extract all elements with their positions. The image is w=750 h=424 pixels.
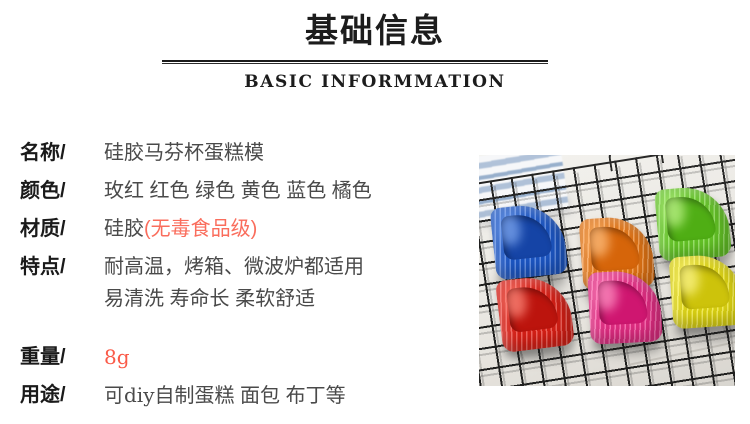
spec-row-color: 颜色/ 玫红 红色 绿色 黄色 蓝色 橘色 xyxy=(20,178,470,204)
page-header: 基础信息 BASIC INFORMMATION xyxy=(0,0,750,110)
spec-row-features: 特点/ 耐高温，烤箱、微波炉都适用 易清洗 寿命长 柔软舒适 xyxy=(20,254,470,312)
blue-cup xyxy=(489,201,568,280)
spec-label-features: 特点/ xyxy=(20,254,98,280)
page-title: 基础信息 xyxy=(0,10,750,52)
product-photo-scene xyxy=(479,155,735,386)
pink-cup xyxy=(587,269,663,345)
spec-value-weight: 8g xyxy=(98,344,470,370)
spec-value-features-line1: 耐高温，烤箱、微波炉都适用 xyxy=(104,254,470,280)
spec-value-material-note: (无毒食品级) xyxy=(144,218,257,240)
spec-value-color: 玫红 红色 绿色 黄色 蓝色 橘色 xyxy=(98,178,470,204)
spec-row-weight: 重量/ 8g xyxy=(20,344,470,370)
spec-label-weight: 重量/ xyxy=(20,344,98,370)
page-subtitle: BASIC INFORMMATION xyxy=(0,72,750,92)
spec-value-features: 耐高温，烤箱、微波炉都适用 易清洗 寿命长 柔软舒适 xyxy=(98,254,470,312)
yellow-cup xyxy=(669,253,735,330)
spec-value-name: 硅胶马芬杯蛋糕模 xyxy=(98,140,470,166)
product-photo xyxy=(479,155,735,386)
spec-value-usage-diy: diy xyxy=(124,383,155,407)
divider-rule-thick xyxy=(162,60,548,62)
red-cup xyxy=(495,273,575,353)
spec-value-material: 硅胶(无毒食品级) xyxy=(98,216,470,242)
spec-row-name: 名称/ 硅胶马芬杯蛋糕模 xyxy=(20,140,470,166)
divider-rule-thin xyxy=(162,63,548,64)
spec-value-features-line2: 易清洗 寿命长 柔软舒适 xyxy=(104,286,470,312)
spec-label-material: 材质/ xyxy=(20,216,98,242)
spec-value-usage-pre: 可 xyxy=(104,385,124,407)
spec-label-color: 颜色/ xyxy=(20,178,98,204)
specification-list: 名称/ 硅胶马芬杯蛋糕模 颜色/ 玫红 红色 绿色 黄色 蓝色 橘色 材质/ 硅… xyxy=(20,140,470,421)
spec-label-usage: 用途/ xyxy=(20,382,98,408)
spec-value-usage-post: 自制蛋糕 面包 布丁等 xyxy=(155,385,346,407)
spec-value-material-text: 硅胶 xyxy=(104,218,144,240)
green-cup xyxy=(654,184,732,262)
title-divider xyxy=(162,60,548,64)
spec-row-material: 材质/ 硅胶(无毒食品级) xyxy=(20,216,470,242)
spec-value-usage: 可diy自制蛋糕 面包 布丁等 xyxy=(98,382,470,409)
spec-row-usage: 用途/ 可diy自制蛋糕 面包 布丁等 xyxy=(20,382,470,409)
spec-label-name: 名称/ xyxy=(20,140,98,166)
